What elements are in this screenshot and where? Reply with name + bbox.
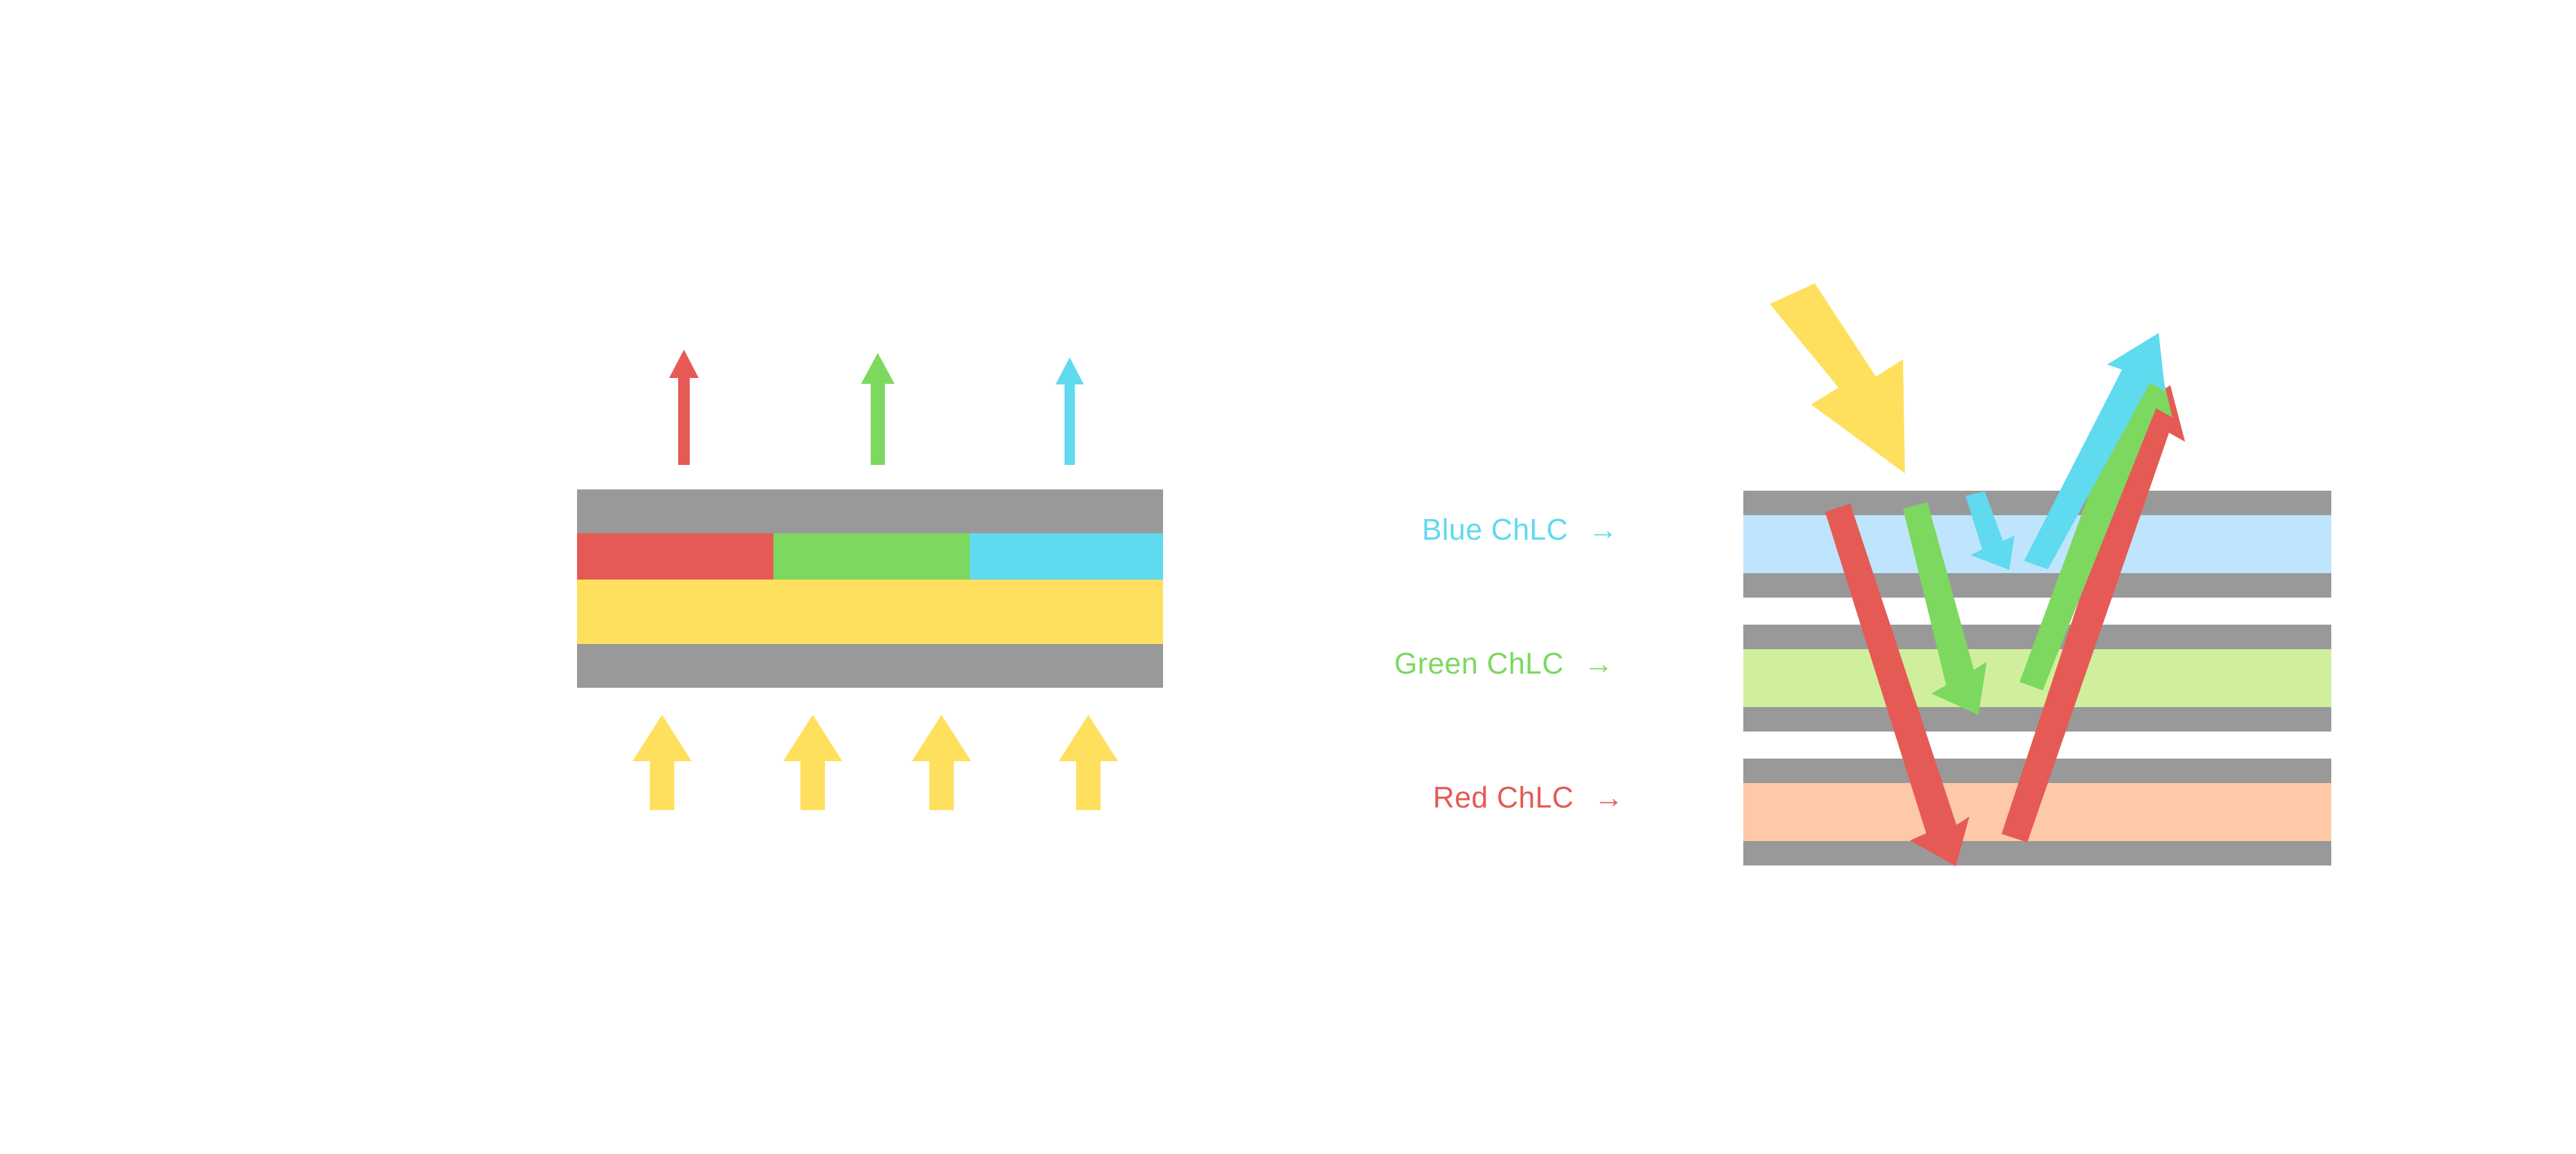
blue-chlc-bottom-electrode [1743,573,2331,598]
red-label-arrow-icon: → [1594,780,1624,814]
green-chlc-label-text: Green ChLC [1394,647,1564,680]
blue-chlc-label-text: Blue ChLC [1422,513,1568,546]
red-chlc-label: Red ChLC → [1433,780,1624,815]
green-label-arrow-icon: → [1584,647,1615,680]
blue-chlc-label: Blue ChLC → [1422,512,1618,547]
red-chlc-label-text: Red ChLC [1433,780,1574,814]
red-chlc-bottom-electrode [1743,841,2331,865]
diagram-canvas: Blue ChLC → Green ChLC → Red ChLC → [0,0,2576,1154]
green-chlc-label: Green ChLC → [1394,646,1614,681]
right-panel [0,0,2576,1154]
white-light-incident-arrow [1770,283,1905,473]
blue-label-arrow-icon: → [1588,513,1618,546]
